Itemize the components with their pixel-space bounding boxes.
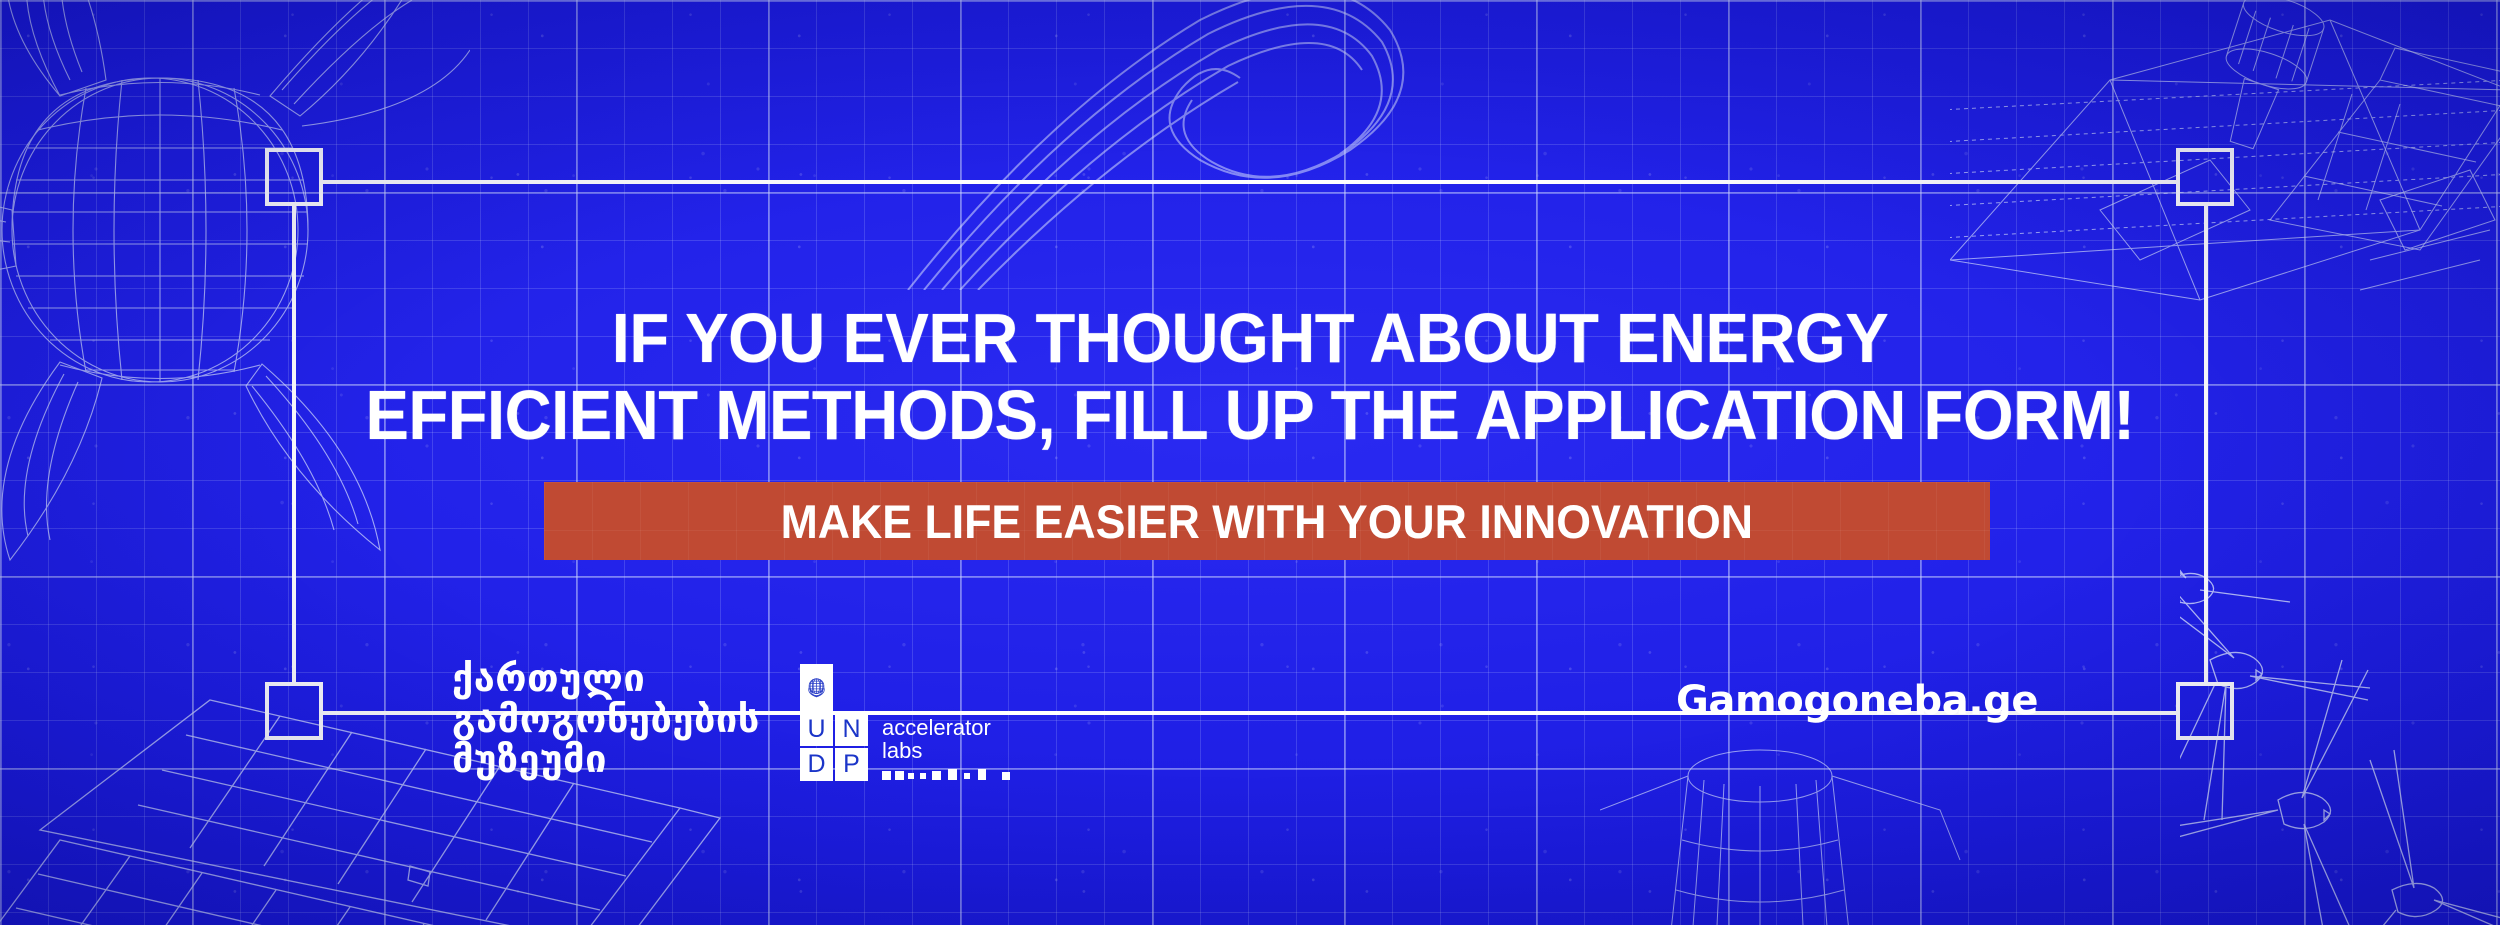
un-globe-laurel-icon bbox=[803, 674, 830, 701]
accelerator-labs-label: accelerator labs bbox=[882, 716, 1032, 763]
undp-letter-p: P bbox=[835, 748, 868, 781]
undp-accelerator-labs-logo[interactable]: U N D P accelerator labs bbox=[800, 664, 1032, 781]
energy-campaign-banner: IF YOU EVER THOUGHT ABOUT ENERGY EFFICIE… bbox=[0, 0, 2500, 925]
undp-letter-u: U bbox=[800, 713, 833, 746]
undp-letter-grid: U N D P bbox=[800, 713, 868, 781]
accelerator-labs-lockup: accelerator labs bbox=[882, 716, 1032, 781]
accelerator-labs-dot-motif bbox=[882, 767, 1032, 779]
undp-marks: U N D P bbox=[800, 664, 868, 781]
footer-logos: ქართული გამოგონებების მუზეუმი bbox=[0, 0, 2500, 925]
museum-logo-text[interactable]: ქართული გამოგონებების მუზეუმი bbox=[452, 658, 760, 780]
undp-letter-n: N bbox=[835, 713, 868, 746]
cta-text: MAKE LIFE EASIER WITH YOUR INNOVATION bbox=[781, 494, 1753, 549]
un-emblem-icon bbox=[800, 664, 833, 711]
website-url[interactable]: Gamogoneba.ge bbox=[1676, 678, 2038, 724]
undp-letter-d: D bbox=[800, 748, 833, 781]
